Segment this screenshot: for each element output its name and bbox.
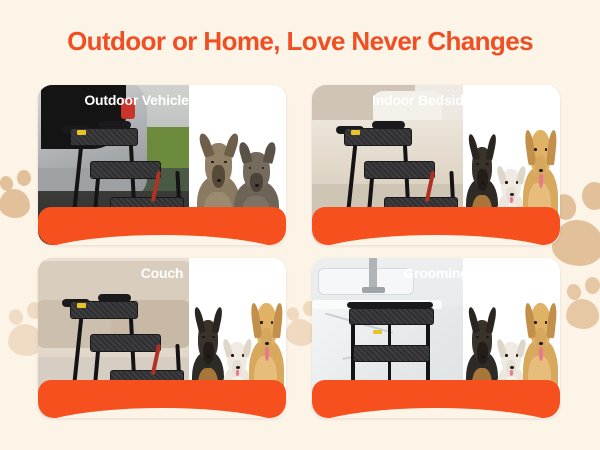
card-grooming[interactable]: Grooming: [312, 258, 560, 418]
card-label-text: Couch: [38, 265, 286, 281]
card-label-bar: [312, 207, 560, 245]
card-label-text: Indoor Bedside Use: [312, 92, 560, 108]
card-couch[interactable]: Couch: [38, 258, 286, 418]
card-label-bar: [38, 207, 286, 245]
paw-print-icon: [566, 276, 600, 330]
card-label-text: Outdoor Vehicle Access: [38, 92, 286, 108]
use-case-grid: Outdoor Vehicle Access: [38, 85, 568, 430]
page-title: Outdoor or Home, Love Never Changes: [0, 26, 600, 57]
card-label-bar: [38, 380, 286, 418]
card-label-text: Grooming: [312, 265, 560, 281]
card-label-bar: [312, 380, 560, 418]
promo-banner: Outdoor or Home, Love Never Changes: [0, 0, 600, 450]
card-outdoor-vehicle-access[interactable]: Outdoor Vehicle Access: [38, 85, 286, 245]
card-indoor-bedside-use[interactable]: Indoor Bedside Use: [312, 85, 560, 245]
